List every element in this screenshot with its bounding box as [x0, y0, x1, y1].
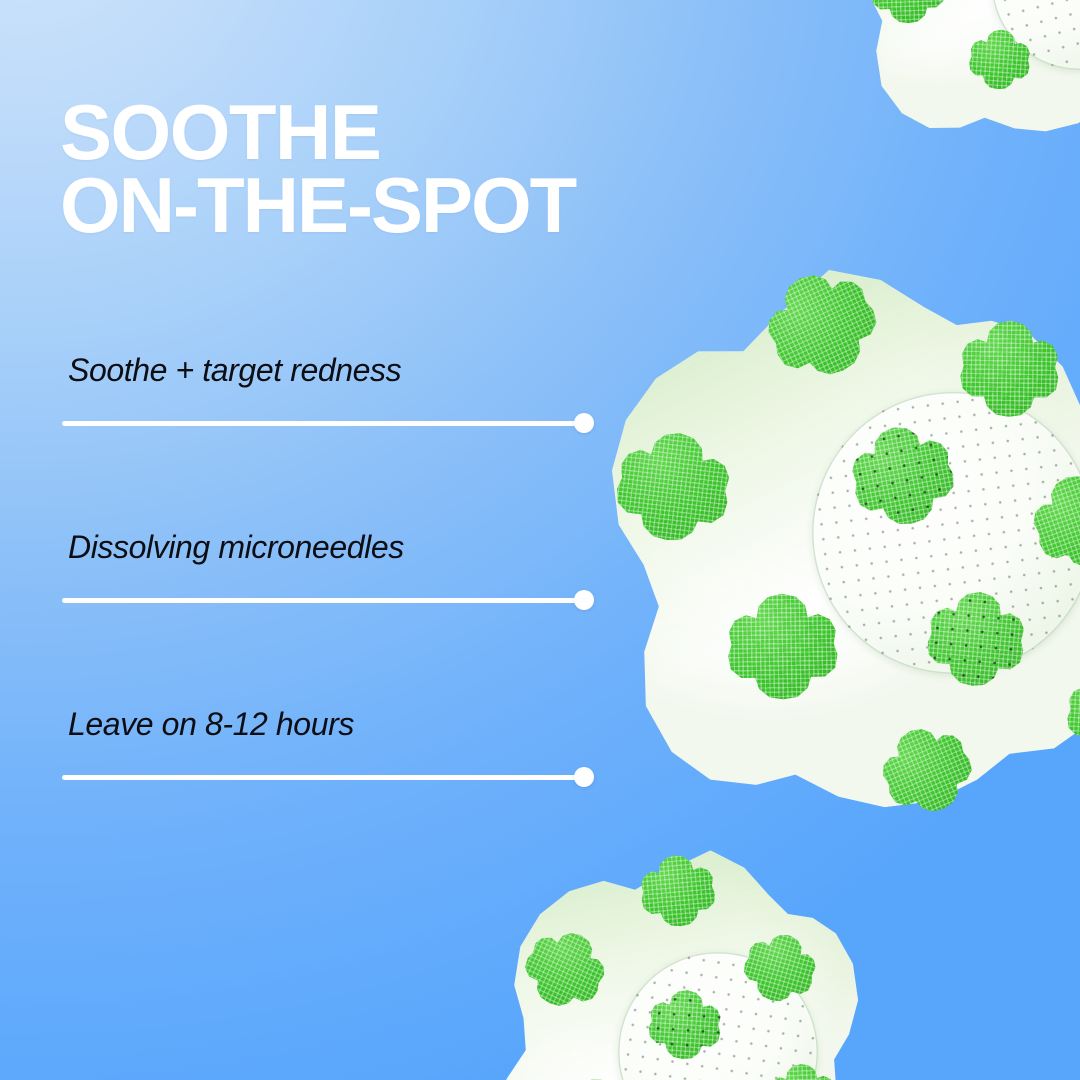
feature-item: Leave on 8-12 hours	[62, 706, 592, 883]
feature-list: Soothe + target redness Dissolving micro…	[62, 352, 592, 883]
feature-label: Dissolving microneedles	[68, 529, 404, 566]
feature-endpoint-dot-icon	[574, 767, 594, 787]
product-patch-main	[581, 240, 1080, 837]
feature-rule	[62, 598, 583, 603]
feature-rule	[62, 775, 583, 780]
patch-body	[808, 0, 1080, 170]
feature-label: Leave on 8-12 hours	[68, 706, 354, 743]
feature-endpoint-dot-icon	[574, 590, 594, 610]
feature-label: Soothe + target redness	[68, 352, 401, 389]
feature-endpoint-dot-icon	[574, 413, 594, 433]
promo-graphic: SOOTHE ON-THE-SPOT Soothe + target redne…	[0, 0, 1080, 1080]
feature-item: Soothe + target redness	[62, 352, 592, 529]
feature-rule	[62, 421, 583, 426]
product-patch-top-right	[808, 0, 1080, 170]
page-title: SOOTHE ON-THE-SPOT	[60, 96, 575, 241]
feature-item: Dissolving microneedles	[62, 529, 592, 706]
headline-line-2: ON-THE-SPOT	[60, 161, 575, 249]
patch-body	[581, 240, 1080, 837]
